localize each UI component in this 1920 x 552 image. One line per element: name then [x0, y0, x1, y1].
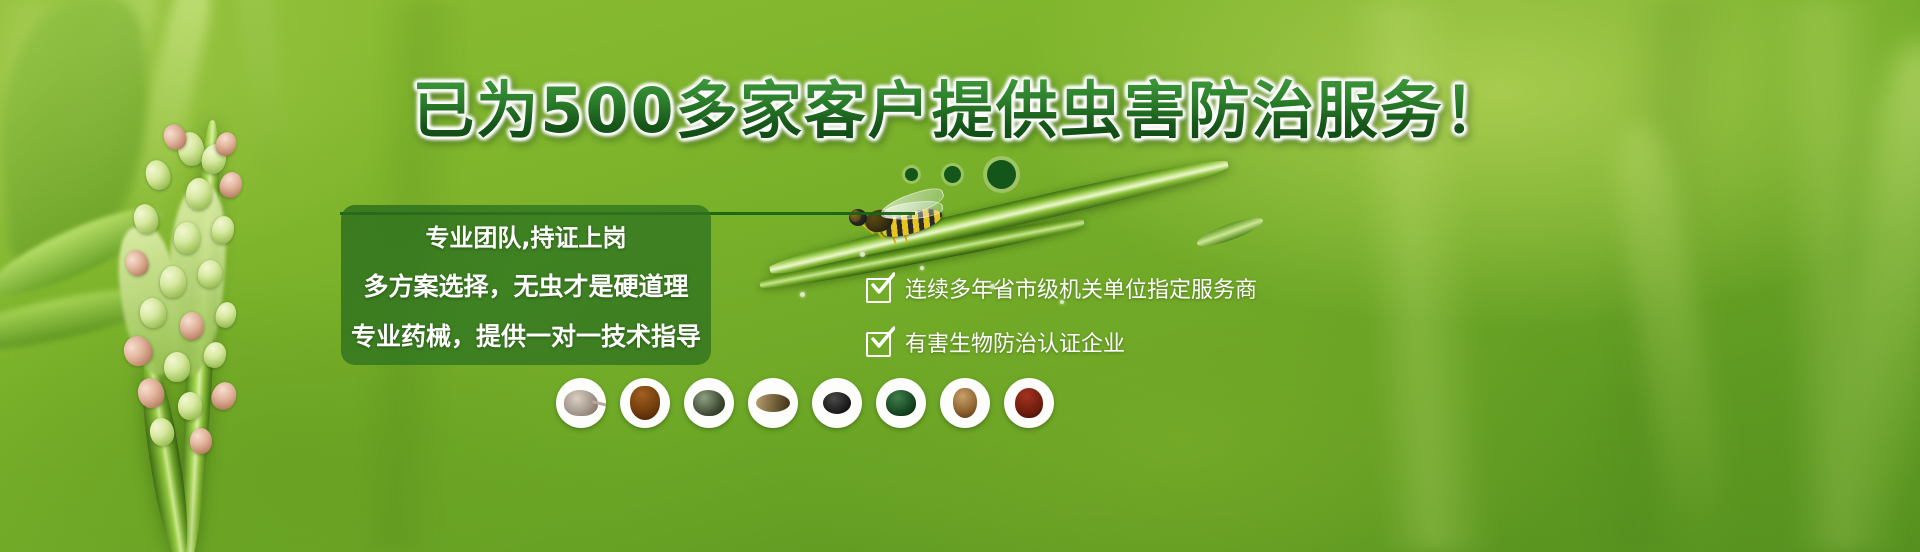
hoverfly-icon [845, 196, 957, 248]
blowfly-icon[interactable] [876, 378, 926, 428]
mosquito-icon[interactable] [748, 378, 798, 428]
pest-control-hero-banner: 已为500多家客户提供虫害防治服务！ 专业团队,持证上岗 多方案选择，无虫才是硬… [0, 0, 1920, 552]
checkbox-checked-icon [866, 330, 891, 355]
mouse-icon[interactable] [556, 378, 606, 428]
page-title: 已为500多家客户提供虫害防治服务！ [402, 76, 1517, 146]
selling-point-line-2: 多方案选择，无虫才是硬道理 [363, 267, 688, 303]
selling-points-panel: 专业团队,持证上岗 多方案选择，无虫才是硬道理 专业药械，提供一对一技术指导 [341, 205, 711, 365]
list-item: 连续多年省市级机关单位指定服务商 [866, 272, 1257, 304]
housefly-icon[interactable] [684, 378, 734, 428]
dew-drop [920, 266, 924, 270]
list-item: 有害生物防治认证企业 [866, 326, 1257, 358]
checkbox-checked-icon [866, 276, 891, 301]
dot-medium-icon [944, 166, 961, 183]
credential-label: 有害生物防治认证企业 [905, 326, 1125, 358]
dew-drop [860, 252, 865, 257]
selling-point-line-1: 专业团队,持证上岗 [425, 218, 626, 253]
dot-small-icon [905, 168, 918, 181]
selling-point-line-3: 专业药械，提供一对一技术指导 [351, 317, 701, 353]
dew-drop [800, 292, 805, 297]
credential-label: 连续多年省市级机关单位指定服务商 [905, 272, 1257, 304]
ant-icon[interactable] [812, 378, 862, 428]
cockroach-icon[interactable] [620, 378, 670, 428]
hero-title-wrap: 已为500多家客户提供虫害防治服务！ [0, 76, 1920, 146]
flea-icon[interactable] [940, 378, 990, 428]
decorative-dots [0, 160, 1920, 189]
dot-large-icon [987, 160, 1016, 189]
credentials-checklist: 连续多年省市级机关单位指定服务商 有害生物防治认证企业 [866, 272, 1257, 380]
pest-type-icons [556, 378, 1054, 428]
bedbug-icon[interactable] [1004, 378, 1054, 428]
